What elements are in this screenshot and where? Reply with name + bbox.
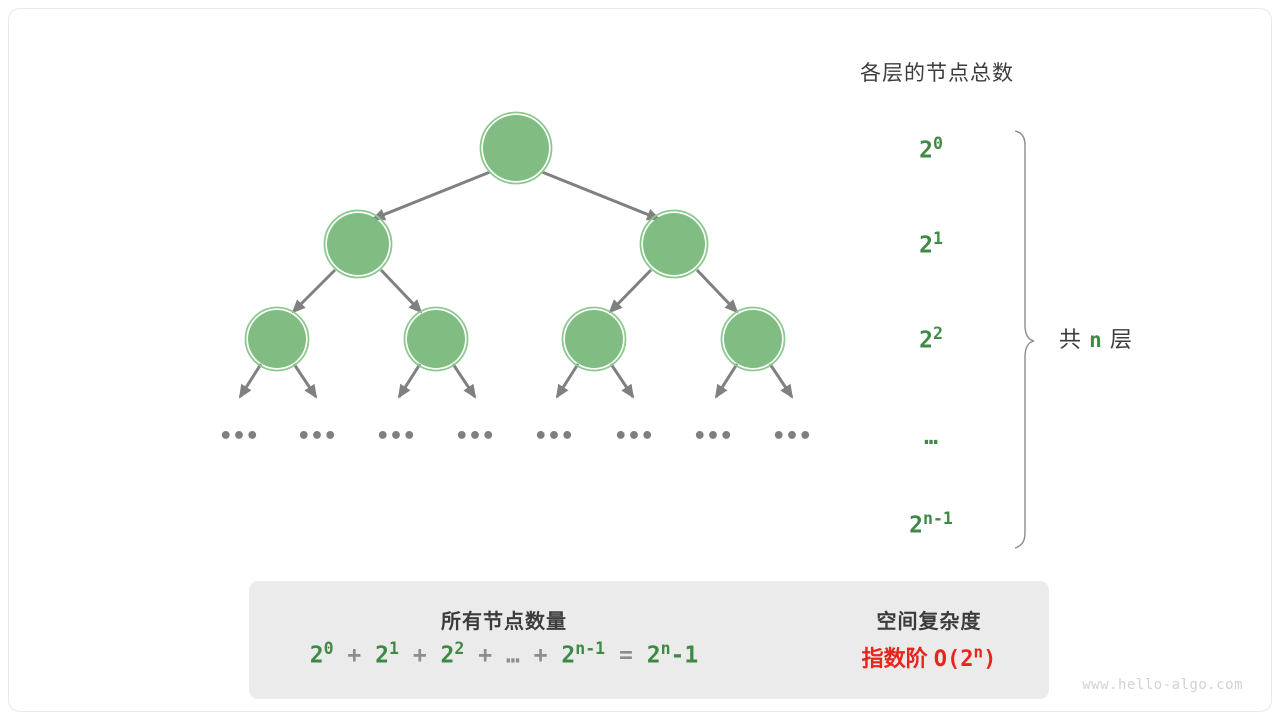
watermark: www.hello-algo.com [1082, 677, 1243, 693]
diagram-card: 各层的节点总数 20 21 22 … 2n-1 共 n 层 ••• ••• ••… [8, 8, 1272, 712]
level-count-label-last: 2n-1 [871, 509, 991, 539]
tree-ellipsis-7: ••• [772, 432, 812, 442]
node-count-formula: 20 + 21 + 22 + … + 2n-1 = 2n-1 [249, 639, 759, 669]
total-layers-label: 共 n 层 [1059, 322, 1239, 354]
tree-ellipsis-0: ••• [219, 432, 259, 442]
tree-ellipsis-3: ••• [455, 432, 495, 442]
level-count-label-2: 22 [871, 324, 991, 354]
space-complexity-value: 指数阶 O(2n) [809, 641, 1049, 673]
summary-right-title: 空间复杂度 [809, 605, 1049, 634]
column-title: 各层的节点总数 [847, 57, 1027, 87]
level-count-label-1: 21 [871, 229, 991, 259]
summary-box: 所有节点数量 20 + 21 + 22 + … + 2n-1 = 2n-1 空间… [249, 581, 1049, 699]
tree-ellipsis-6: ••• [693, 432, 733, 442]
tree-ellipsis-5: ••• [614, 432, 654, 442]
tree-ellipsis-1: ••• [297, 432, 337, 442]
summary-left-title: 所有节点数量 [249, 605, 759, 634]
level-count-ellipsis: … [871, 424, 991, 450]
tree-ellipsis-2: ••• [376, 432, 416, 442]
level-count-label-0: 20 [871, 134, 991, 164]
tree-ellipsis-4: ••• [534, 432, 574, 442]
layers-variable: n [1089, 328, 1103, 352]
